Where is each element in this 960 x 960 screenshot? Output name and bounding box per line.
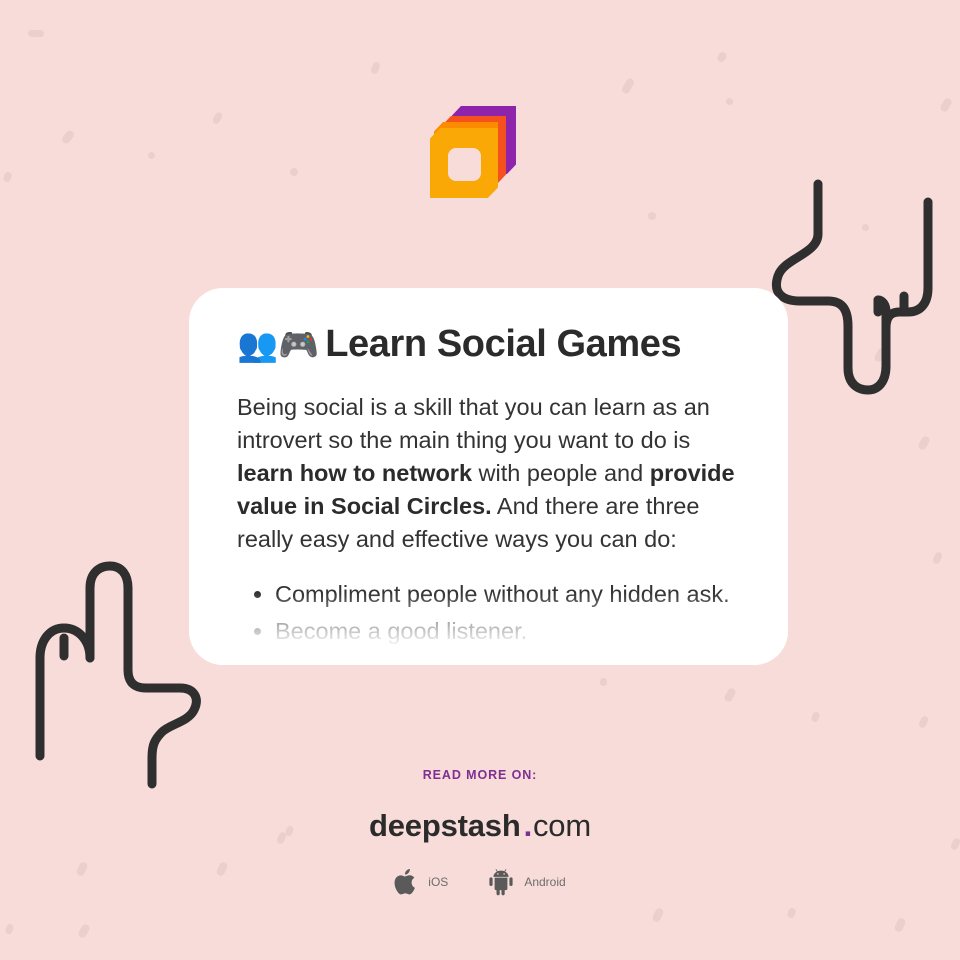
read-more-label: READ MORE ON: — [0, 768, 960, 782]
android-store-badge[interactable]: Android — [486, 867, 565, 897]
background-speck — [290, 168, 298, 176]
body-segment-1: learn how to network — [237, 460, 472, 486]
body-segment-0: Being social is a skill that you can lea… — [237, 394, 710, 453]
apple-icon — [394, 867, 420, 897]
card-body-paragraph: Being social is a skill that you can lea… — [237, 391, 740, 556]
background-speck — [5, 923, 15, 935]
background-speck — [811, 711, 821, 723]
background-speck — [787, 907, 797, 919]
wordmark-dot: . — [524, 808, 532, 843]
card-title: 👥🎮Learn Social Games — [237, 322, 740, 367]
background-speck — [862, 224, 869, 231]
background-speck — [651, 907, 664, 923]
background-speck — [148, 152, 155, 159]
background-speck — [893, 917, 906, 933]
background-speck — [932, 551, 943, 565]
background-speck — [726, 98, 733, 105]
wordmark-name: deepstash — [369, 808, 521, 843]
background-speck — [77, 923, 91, 939]
background-speck — [600, 678, 607, 686]
ios-store-badge[interactable]: iOS — [394, 867, 448, 897]
android-icon — [486, 867, 516, 897]
background-speck — [648, 212, 656, 220]
background-speck — [716, 51, 728, 64]
footer: READ MORE ON: deepstash.com iOS — [0, 768, 960, 897]
card-bullet-list: Compliment people without any hidden ask… — [237, 578, 740, 648]
social-share-card-canvas: 👥🎮Learn Social Games Being social is a s… — [0, 0, 960, 960]
background-speck — [917, 435, 931, 451]
background-speck — [621, 77, 636, 95]
app-store-badges: iOS Android — [0, 867, 960, 897]
background-speck — [723, 687, 737, 703]
background-speck — [873, 347, 887, 363]
list-item: Become a good listener. — [275, 615, 740, 648]
pointing-hand-down-right-illustration — [758, 176, 960, 396]
wordmark-tld: com — [533, 808, 591, 843]
content-card: 👥🎮Learn Social Games Being social is a s… — [189, 288, 788, 665]
body-segment-2: with people and — [472, 460, 650, 486]
list-item: Compliment people without any hidden ask… — [275, 578, 740, 611]
background-speck — [918, 715, 929, 729]
logo-center-cutout — [448, 148, 481, 181]
card-title-text: Learn Social Games — [325, 323, 681, 365]
android-store-label: Android — [524, 875, 565, 889]
ios-store-label: iOS — [428, 875, 448, 889]
background-speck — [61, 129, 76, 145]
background-speck — [370, 61, 381, 75]
background-speck — [939, 97, 953, 113]
background-speck — [3, 171, 13, 183]
title-emoji: 👥🎮 — [237, 326, 319, 363]
deepstash-wordmark[interactable]: deepstash.com — [0, 810, 960, 841]
background-speck — [28, 30, 44, 38]
deepstash-cube-logo — [430, 106, 516, 196]
background-speck — [211, 111, 223, 125]
